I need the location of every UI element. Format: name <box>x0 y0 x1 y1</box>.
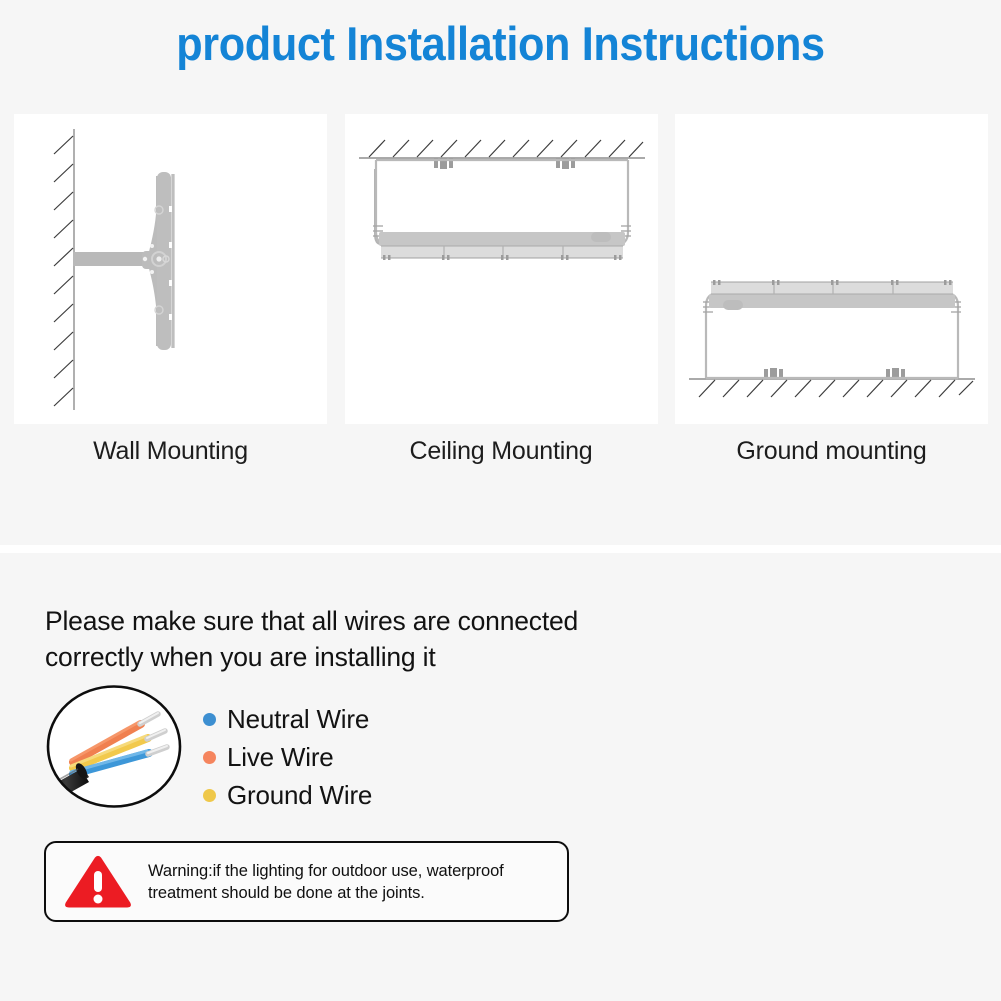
warning-box: Warning:if the lighting for outdoor use,… <box>44 841 569 922</box>
live-wire-label: Live Wire <box>227 742 334 773</box>
installation-instructions-page: product Installation Instructions <box>0 0 1001 1001</box>
legend-item-neutral-wire: Neutral Wire <box>203 700 533 738</box>
caption-ground-mounting: Ground mounting <box>675 437 988 473</box>
mounting-panel-group <box>14 114 988 424</box>
panel-wall-mounting <box>14 114 327 424</box>
neutral-wire-label: Neutral Wire <box>227 704 369 735</box>
three-core-cable-icon <box>45 684 183 809</box>
wall-mounting-diagram <box>14 114 327 424</box>
panel-ground-mounting <box>675 114 988 424</box>
wiring-instruction-text: Please make sure that all wires are conn… <box>45 603 665 675</box>
mounting-caption-group: Wall Mounting Ceiling Mounting Ground mo… <box>14 437 988 473</box>
ground-wire-color-dot <box>203 789 216 802</box>
panel-ceiling-mounting <box>345 114 658 424</box>
ceiling-mounting-diagram <box>345 114 658 424</box>
caption-ceiling-mounting: Ceiling Mounting <box>345 437 658 473</box>
ground-mounting-diagram <box>675 114 988 424</box>
ground-wire-label: Ground Wire <box>227 780 372 811</box>
wire-legend: Neutral Wire Live Wire Ground Wire <box>203 700 533 814</box>
legend-item-live-wire: Live Wire <box>203 738 533 776</box>
legend-item-ground-wire: Ground Wire <box>203 776 533 814</box>
live-wire-color-dot <box>203 751 216 764</box>
warning-triangle-icon <box>62 852 134 912</box>
neutral-wire-color-dot <box>203 713 216 726</box>
caption-wall-mounting: Wall Mounting <box>14 437 327 473</box>
page-title: product Installation Instructions <box>40 16 961 71</box>
warning-message: Warning:if the lighting for outdoor use,… <box>148 860 567 904</box>
